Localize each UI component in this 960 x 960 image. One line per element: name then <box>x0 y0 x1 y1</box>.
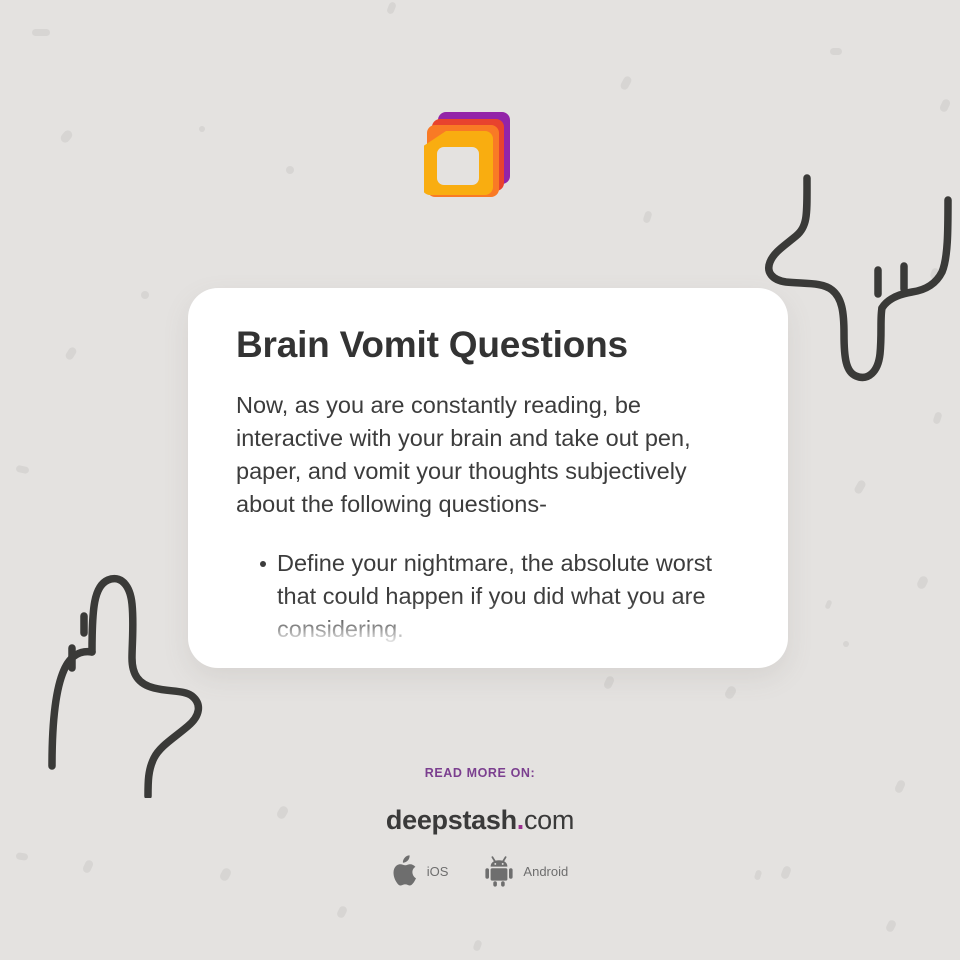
background-speck <box>141 291 149 299</box>
read-more-label: READ MORE ON: <box>0 766 960 780</box>
background-speck <box>939 98 952 113</box>
background-speck <box>843 641 849 647</box>
card-body-text: Now, as you are constantly reading, be i… <box>236 389 740 521</box>
background-speck <box>32 29 50 36</box>
background-speck <box>286 166 294 174</box>
deepstash-wordmark[interactable]: deepstash.com <box>0 807 960 834</box>
background-speck <box>59 129 74 145</box>
pointing-hand-right-icon <box>760 172 960 392</box>
idea-card: Brain Vomit Questions Now, as you are co… <box>188 288 788 668</box>
background-speck <box>199 126 205 132</box>
deepstash-logo <box>424 100 528 204</box>
apple-icon <box>392 855 418 887</box>
background-speck <box>723 685 737 701</box>
footer: READ MORE ON: deepstash.com iOS <box>0 766 960 887</box>
background-speck <box>932 411 942 425</box>
background-speck <box>916 575 930 591</box>
android-icon <box>484 855 514 887</box>
ios-badge-label: iOS <box>427 864 449 879</box>
logo-cutout <box>437 147 479 185</box>
wordmark-dot: . <box>517 805 524 835</box>
ios-store-badge[interactable]: iOS <box>392 855 449 887</box>
background-speck <box>15 465 29 475</box>
background-speck <box>64 346 78 361</box>
background-speck <box>603 675 616 690</box>
background-speck <box>853 479 867 495</box>
android-badge-label: Android <box>523 864 568 879</box>
background-speck <box>386 1 397 15</box>
android-store-badge[interactable]: Android <box>484 855 568 887</box>
background-speck <box>619 75 633 91</box>
idea-card-content: Brain Vomit Questions Now, as you are co… <box>188 288 788 646</box>
wordmark-name: deepstash <box>386 805 517 835</box>
background-speck <box>336 905 348 919</box>
wordmark-tld: com <box>524 805 574 835</box>
background-speck <box>885 919 897 933</box>
page-title: Brain Vomit Questions <box>236 324 740 367</box>
card-bullet-list: Define your nightmare, the absolute wors… <box>236 547 740 646</box>
background-speck <box>824 599 832 609</box>
background-speck <box>642 210 652 224</box>
background-speck <box>472 939 482 952</box>
background-speck <box>929 267 939 280</box>
store-badges: iOS A <box>0 855 960 887</box>
list-item: Define your nightmare, the absolute wors… <box>262 547 740 646</box>
poster-canvas: Brain Vomit Questions Now, as you are co… <box>0 0 960 960</box>
background-speck <box>830 48 842 55</box>
